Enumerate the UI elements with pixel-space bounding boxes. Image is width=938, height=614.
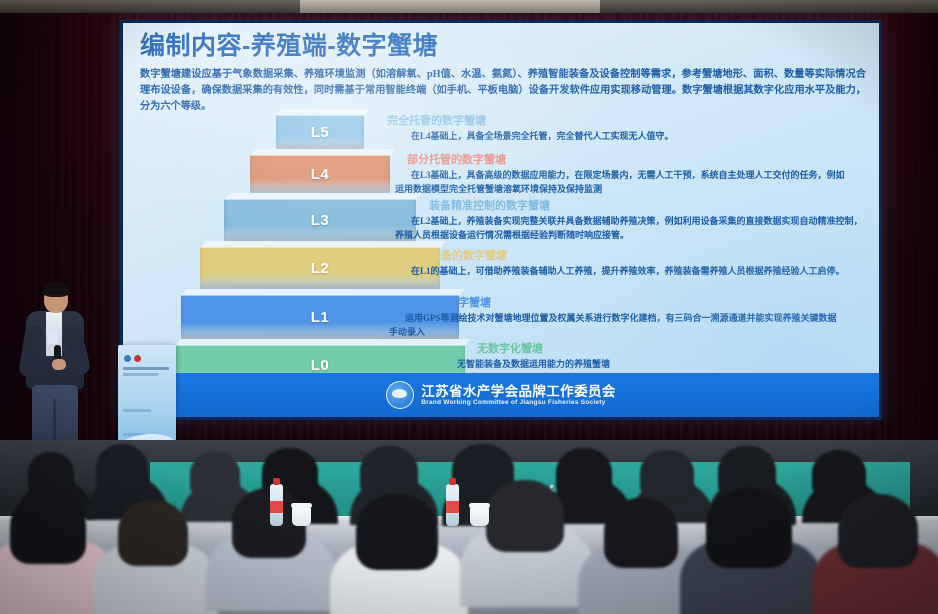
slide-footer-bar: 江苏省水产学会品牌工作委员会 Brand Working Committee o…	[123, 373, 879, 417]
level-body: 在L3基础上，具备高级的数据应用能力，在限定场景内，无需人工干预，系统自主处理人…	[395, 169, 853, 196]
pyramid-tier-top-face	[276, 109, 369, 116]
bottle-label	[270, 501, 283, 513]
presentation-slide: 编制内容-养殖端-数字蟹塘 数字蟹塘建设应基于气象数据采集、养殖环境监测（如溶解…	[123, 23, 879, 417]
footer-org-name-en: Brand Working Committee of Jiangsu Fishe…	[421, 399, 616, 406]
level-heading: 完全托管的数字蟹塘	[387, 115, 873, 128]
pyramid-tier-label: L5	[311, 124, 330, 141]
pyramid-tier-label: L0	[311, 357, 330, 374]
fisheries-society-logo-icon	[386, 381, 414, 409]
bottle-label	[446, 501, 459, 513]
pyramid-tier-label: L3	[311, 212, 330, 229]
rollup-logo-icon-2	[134, 355, 141, 362]
level-block-l1[interactable]: 有溯源的数字蟹塘运用GPS等测绘技术对蟹塘地理位置及权属关系进行数字化建档，有三…	[381, 297, 873, 339]
level-heading: 有溯源的数字蟹塘	[403, 297, 873, 310]
level-block-l0[interactable]: 无数字化蟹塘无智能装备及数据运用能力的养殖蟹塘	[381, 343, 873, 372]
rollup-line	[123, 409, 151, 412]
tea-cup	[292, 506, 311, 526]
level-body: 在L4基础上，具备全场景完全托管，完全替代人工实现无人值守。	[395, 130, 815, 144]
slide-title: 编制内容-养殖端-数字蟹塘	[140, 33, 438, 59]
pyramid-tier-label: L2	[311, 260, 330, 277]
level-heading: 无数字化蟹塘	[477, 343, 873, 356]
tea-cup	[470, 506, 489, 526]
pyramid-tier-l5[interactable]: L5	[276, 115, 364, 149]
bottle-cap	[273, 478, 280, 485]
ceiling-light-strip	[300, 0, 600, 13]
audience-member-head	[28, 452, 74, 496]
audience-member-head	[706, 488, 792, 568]
audience-member-head	[812, 450, 866, 498]
curtain-shadow-right	[880, 13, 938, 460]
presenter-glasses-icon	[46, 295, 66, 301]
pyramid-tier-label: L4	[311, 166, 330, 183]
level-heading: 装备精准控制的数字蟹塘	[429, 200, 873, 213]
footer-text-block: 江苏省水产学会品牌工作委员会 Brand Working Committee o…	[421, 384, 616, 406]
level-body: 运用GPS等测绘技术对蟹塘地理位置及权属关系进行数字化建档，有三码合一溯源通道并…	[389, 312, 839, 339]
water-bottle	[270, 484, 283, 526]
presenter-hand	[52, 359, 66, 370]
level-heading: 部分托管的数字蟹塘	[407, 154, 873, 167]
level-body: 在L1的基础上，可借助养殖装备辅助人工养殖，提升养殖效率，养殖装备需养殖人员根据…	[395, 265, 863, 279]
level-body: 在L2基础上，养殖装备实现完整关联并具备数据辅助养殖决策，例如利用设备采集的直接…	[395, 215, 865, 242]
audience-member-head	[486, 480, 564, 552]
pyramid-tier-l4[interactable]: L4	[250, 155, 390, 193]
rollup-line	[123, 373, 159, 376]
cup-lid	[291, 503, 312, 508]
audience-member-head	[118, 500, 188, 566]
cup-lid	[469, 503, 490, 508]
bottle-cap	[449, 478, 456, 485]
level-block-l3[interactable]: 装备精准控制的数字蟹塘在L2基础上，养殖装备实现完整关联并具备数据辅助养殖决策，…	[381, 200, 873, 242]
pyramid-tier-label: L1	[311, 309, 330, 326]
level-block-l2[interactable]: 有装备的数字蟹塘在L1的基础上，可借助养殖装备辅助人工养殖，提升养殖效率，养殖装…	[381, 250, 873, 279]
audience-member-head	[838, 494, 918, 568]
slide-intro-paragraph: 数字蟹塘建设应基于气象数据采集、养殖环境监测（如溶解氧、pH值、水温、氨氮）、养…	[140, 67, 866, 114]
conference-room-photo: 编制内容-养殖端-数字蟹塘 数字蟹塘建设应基于气象数据采集、养殖环境监测（如溶解…	[0, 0, 938, 614]
level-heading: 有装备的数字蟹塘	[419, 250, 873, 263]
projection-screen: 编制内容-养殖端-数字蟹塘 数字蟹塘建设应基于气象数据采集、养殖环境监测（如溶解…	[120, 20, 882, 420]
level-block-l5[interactable]: 完全托管的数字蟹塘在L4基础上，具备全场景完全托管，完全替代人工实现无人值守。	[381, 115, 873, 144]
audience-member-head	[190, 452, 240, 498]
presenter	[18, 285, 90, 460]
audience-member-head	[604, 498, 678, 568]
presenter-badge	[48, 331, 58, 344]
audience-member-head	[360, 446, 418, 498]
level-body: 无智能装备及数据运用能力的养殖蟹塘	[441, 358, 741, 372]
footer-org-name-cn: 江苏省水产学会品牌工作委员会	[421, 384, 616, 399]
water-bottle	[446, 484, 459, 526]
audience-member-head	[356, 494, 438, 570]
rollup-line	[123, 367, 169, 370]
rollup-logo-icon	[124, 355, 131, 362]
audience-member-head	[640, 450, 694, 498]
pyramid-tier-top-face	[181, 289, 464, 296]
audience-member-head	[10, 492, 86, 564]
audience-member-head	[96, 444, 148, 494]
level-block-l4[interactable]: 部分托管的数字蟹塘在L3基础上，具备高级的数据应用能力，在限定场景内，无需人工干…	[381, 154, 873, 196]
audience-member-head	[556, 448, 612, 498]
pyramid-tier-top-face	[250, 149, 395, 156]
